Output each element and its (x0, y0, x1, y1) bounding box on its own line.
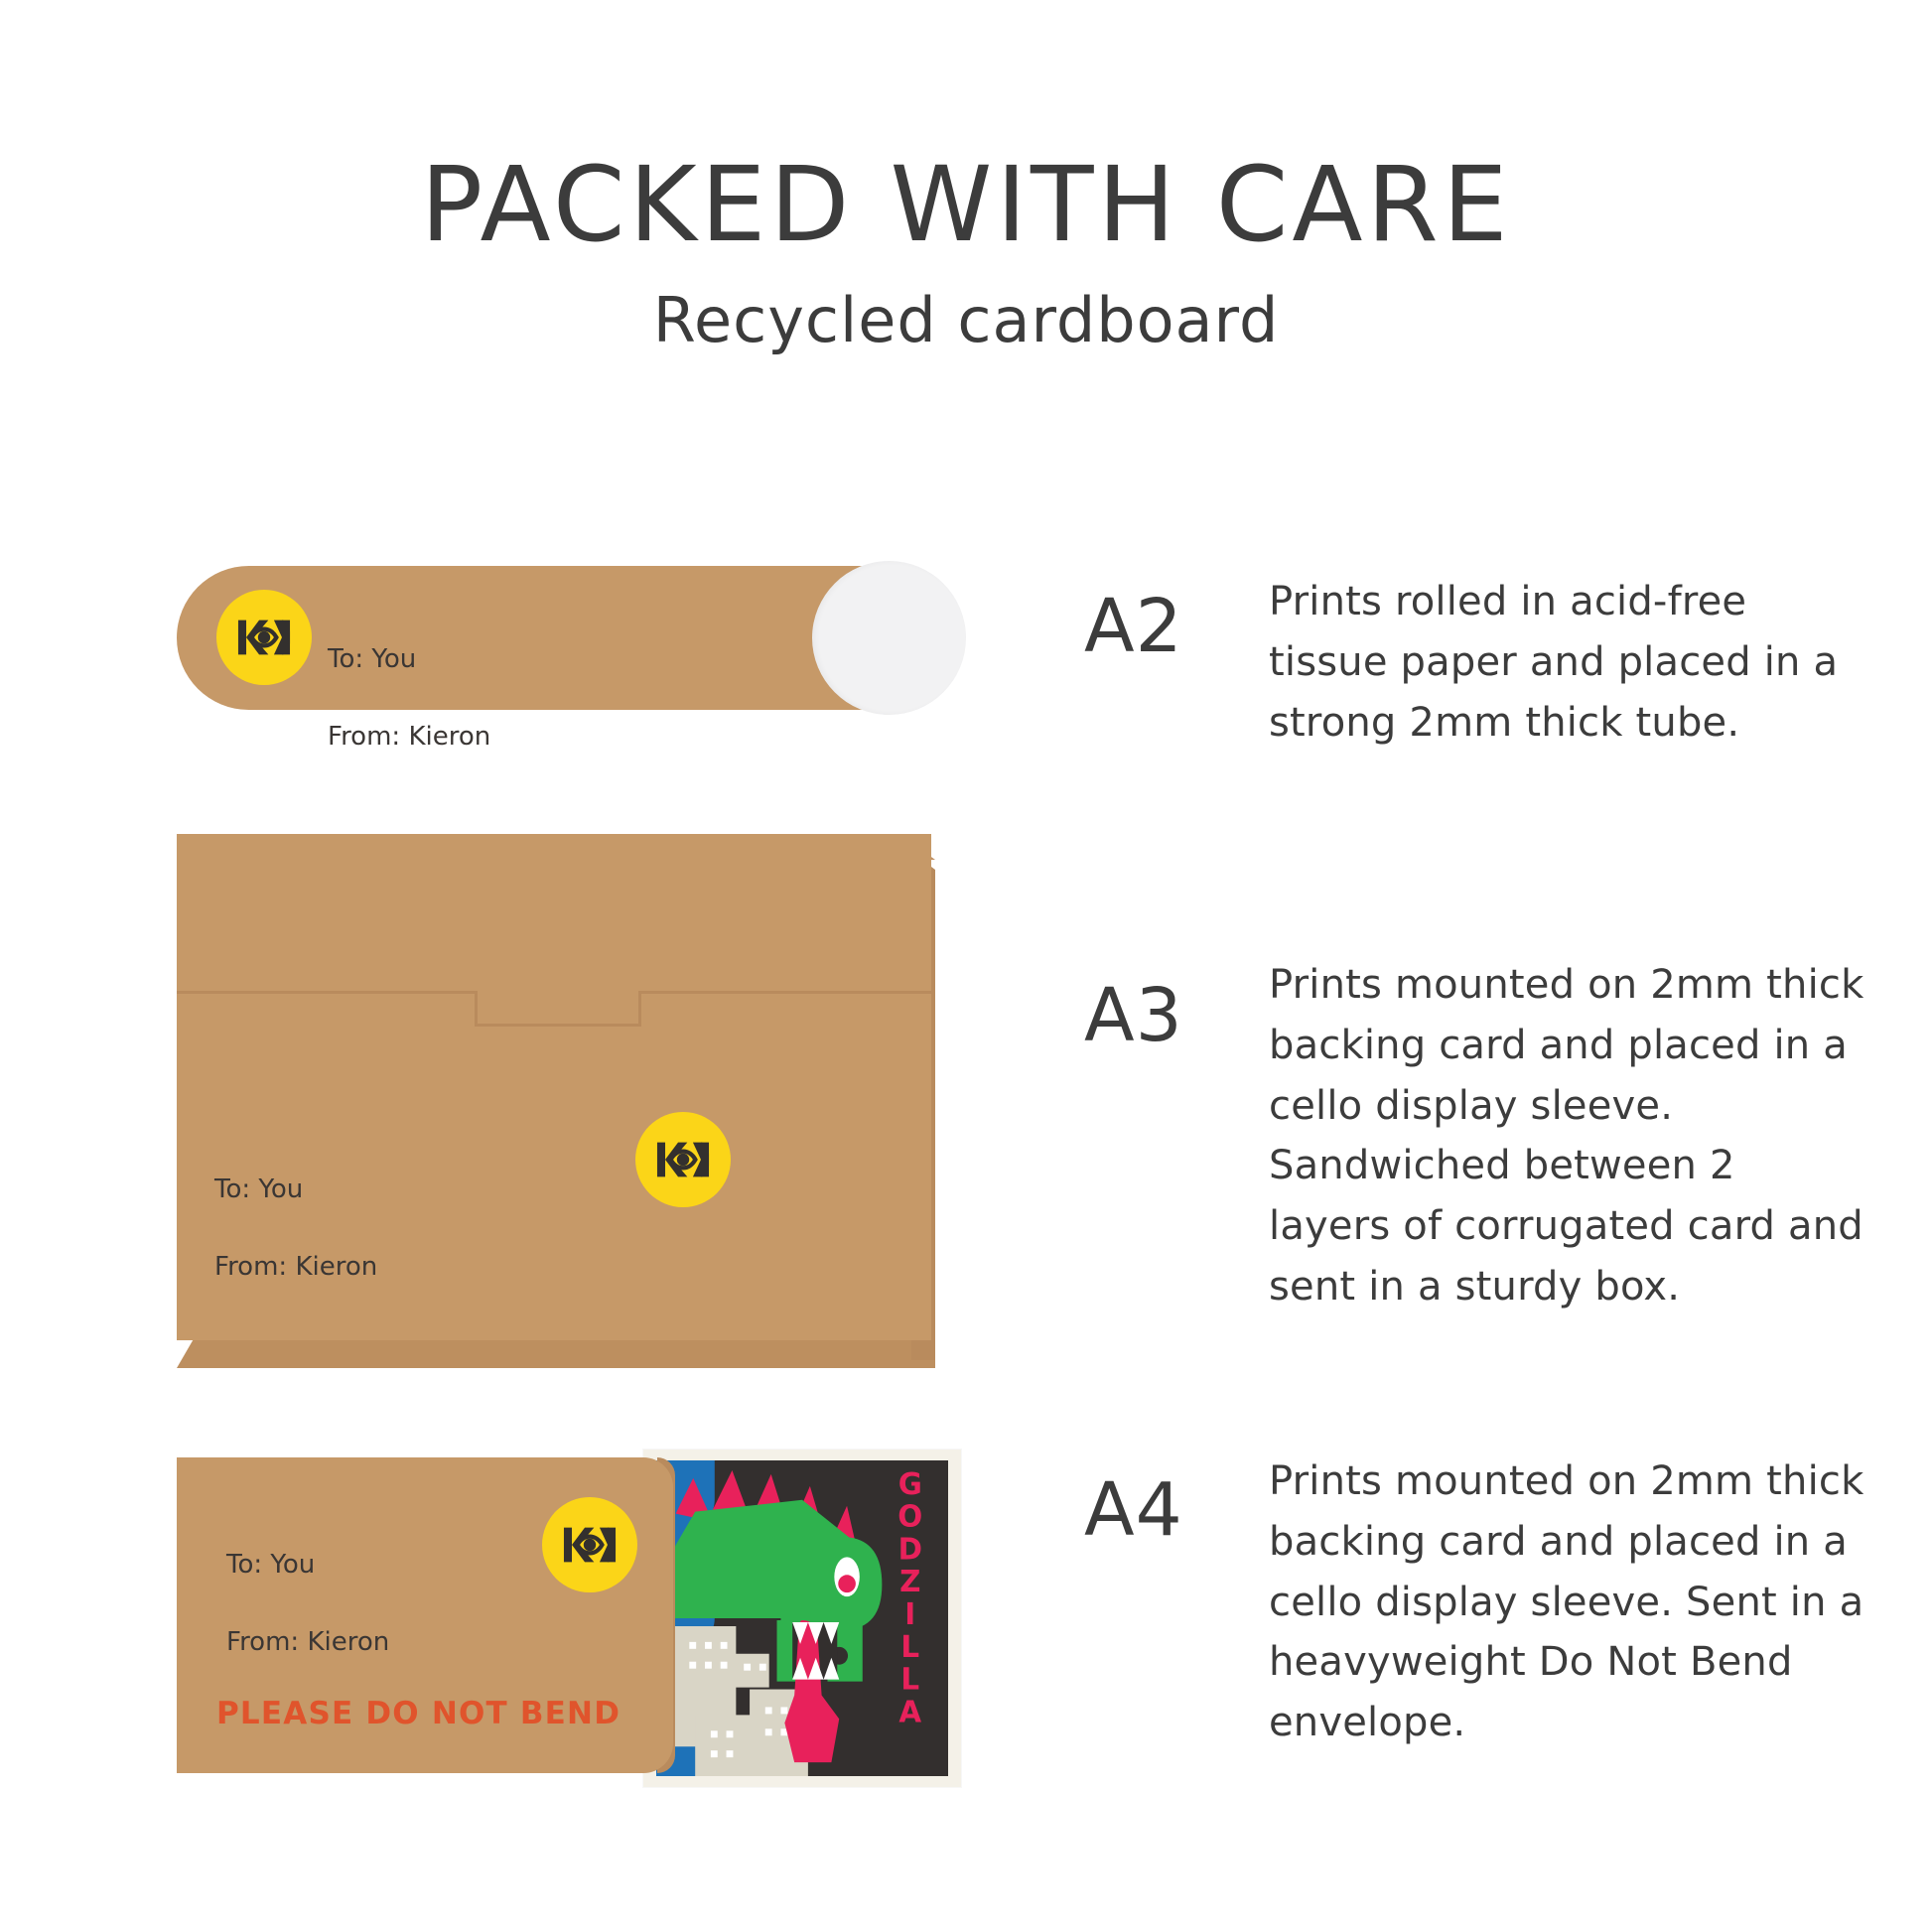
page-header: PACKED WITH CARE Recycled cardboard (0, 0, 1932, 356)
package-row-a4: GODZILLA To: You From: Kieron (0, 1449, 1932, 1847)
kieron-logo-icon (216, 590, 312, 685)
address-to: To: You (328, 640, 490, 679)
address-to: To: You (214, 1171, 377, 1209)
godzilla-title: GODZILLA (897, 1467, 924, 1729)
address-from: From: Kieron (328, 718, 490, 757)
godzilla-artwork: GODZILLA (656, 1460, 948, 1776)
do-not-bend-warning: PLEASE DO NOT BEND (216, 1696, 621, 1731)
tube-end-cap (812, 561, 966, 715)
address-from: From: Kieron (214, 1248, 377, 1287)
page-title: PACKED WITH CARE (0, 0, 1932, 258)
package-row-a3: To: You From: Kieron A3 Prints mounted (0, 834, 1932, 1400)
size-label-a4: A4 (1084, 1467, 1183, 1553)
kieron-logo-icon (542, 1497, 637, 1592)
box-address-block: To: You From: Kieron (214, 1132, 377, 1325)
description-a2: Prints rolled in acid-free tissue paper … (1269, 572, 1864, 753)
description-a3: Prints mounted on 2mm thick backing card… (1269, 955, 1864, 1317)
description-a4: Prints mounted on 2mm thick backing card… (1269, 1451, 1864, 1753)
tube-address-block: To: You From: Kieron (328, 602, 490, 795)
address-from: From: Kieron (226, 1623, 389, 1662)
size-label-a3: A3 (1084, 973, 1183, 1058)
address-to: To: You (226, 1546, 389, 1585)
package-row-a2: To: You From: Kieron A2 Prints rolled in… (0, 566, 1932, 745)
page-subtitle: Recycled cardboard (0, 258, 1932, 356)
godzilla-print: GODZILLA (643, 1449, 961, 1787)
size-label-a2: A2 (1084, 584, 1183, 669)
box-flap-notch (475, 991, 641, 1027)
kieron-logo-icon (635, 1112, 731, 1207)
box-notch-mask (478, 989, 638, 994)
envelope-address-block: To: You From: Kieron (226, 1507, 389, 1701)
